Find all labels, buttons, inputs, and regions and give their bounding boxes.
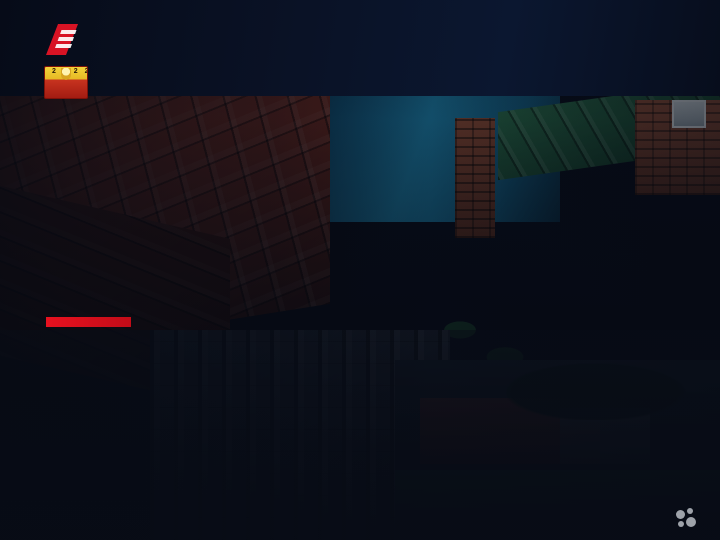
avito-watermark: [676, 508, 702, 528]
red-divider-rule: [46, 317, 131, 327]
advertisement-banner: 2022: [0, 0, 720, 540]
avito-dots-icon: [676, 508, 696, 528]
main-content: [0, 0, 720, 540]
